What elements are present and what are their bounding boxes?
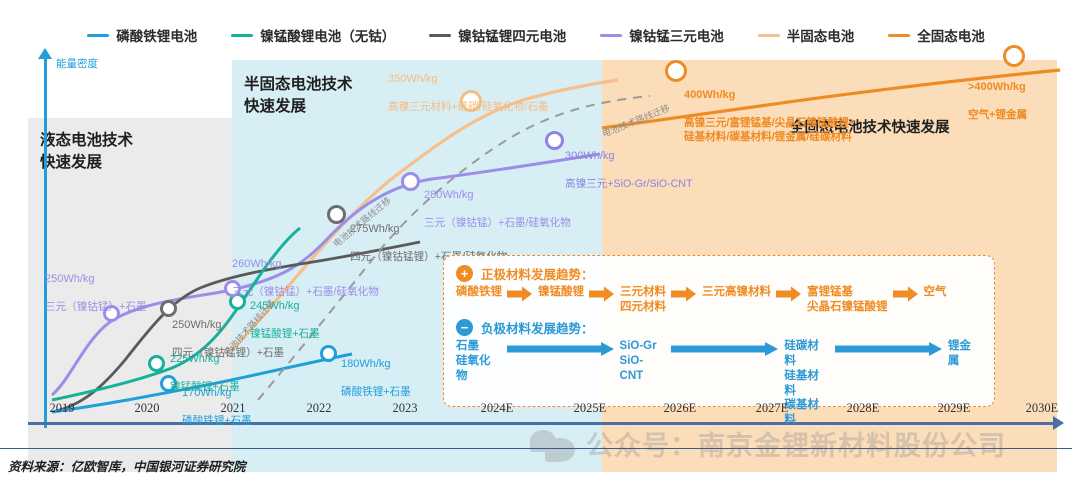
source-note: 资料来源：亿欧智库，中国银河证券研究院 (8, 456, 246, 475)
legend-swatch (231, 34, 253, 37)
annotation-material: 高镍三元/富锂锰基/尖晶石镍锰酸锂+ 硅基材料/碳基材料/锂金属/硅碳材料 (684, 117, 855, 143)
annotation-value: >400Wh/kg (968, 81, 1026, 93)
cathode-step: 三元高镍材料 (702, 285, 771, 300)
cathode-step: 富锂锰基 尖晶石镍锰酸锂 (807, 285, 888, 314)
legend-swatch (87, 34, 109, 37)
anode-title: 负极材料发展趋势： (481, 318, 594, 337)
legend-label: 半固态电池 (787, 25, 855, 45)
annotation-ncm-280: 280Wh/kg 三元（镍钴锰）+石墨/硅氧化物 (424, 174, 571, 231)
node-ncm-300 (545, 131, 564, 150)
legend-swatch (600, 34, 622, 37)
arrow-right-icon (507, 342, 615, 356)
annotation-material: 镍锰酸锂+石墨 (170, 381, 240, 393)
x-tick: 2028E (847, 401, 880, 416)
legend-item-lnmo: 镍锰酸锂电池（无钴） (231, 25, 395, 45)
cathode-step: 镍锰酸锂 (538, 285, 584, 300)
legend-label: 镍锰酸锂电池（无钴） (260, 25, 395, 45)
arrow-right-icon (776, 286, 802, 302)
annotation-material: 高镍三元材料+硅碳/硅氧化物/石墨 (388, 101, 548, 113)
cathode-title: 正极材料发展趋势： (481, 264, 594, 283)
legend-label: 全固态电池 (917, 25, 985, 45)
arrow-right-icon (589, 286, 615, 302)
annotation-value: 250Wh/kg (172, 319, 222, 331)
x-tick: 2020 (135, 401, 160, 416)
node-lnmo-225 (148, 355, 165, 372)
cathode-chain: 磷酸铁锂 镍锰酸锂 三元材料 四元材料 三元高镍材料 富锂锰基 尖晶石镍锰酸锂 … (456, 285, 982, 314)
x-tick: 2029E (938, 401, 971, 416)
arrow-right-icon (835, 342, 943, 356)
legend-item-ncm: 镍钴锰三元电池 (600, 25, 724, 45)
annotation-value: 260Wh/kg (232, 258, 282, 270)
x-tick: 2026E (664, 401, 697, 416)
legend-swatch (888, 34, 910, 37)
annotation-value: 180Wh/kg (341, 358, 391, 370)
arrow-right-icon (671, 286, 697, 302)
x-tick: 2021 (221, 401, 246, 416)
chart-legend: 磷酸铁锂电池 镍锰酸锂电池（无钴） 镍钴锰锂四元电池 镍钴锰三元电池 半固态电池… (0, 22, 1072, 48)
node-all-solid-400plus (1003, 45, 1025, 67)
annotation-all-solid-400: 400Wh/kg 高镍三元/富锂锰基/尖晶石镍锰酸锂+ 硅基材料/碳基材料/锂金… (684, 74, 855, 145)
annotation-material: 高镍三元+SiO-Gr/SiO-CNT (565, 178, 692, 190)
annotation-material: 三元（镍钴锰）+石墨/硅氧化物 (232, 286, 379, 298)
annotation-material: 空气+锂金属 (968, 109, 1027, 121)
legend-swatch (429, 34, 451, 37)
annotation-material: 三元（镍钴锰）+石墨/硅氧化物 (424, 217, 571, 229)
legend-label: 镍钴锰三元电池 (629, 25, 724, 45)
node-ncml-275 (327, 205, 346, 224)
footer-divider (0, 448, 1072, 449)
annotation-material: 三元（镍钴锰）+石墨 (45, 301, 147, 313)
x-tick: 2022 (307, 401, 332, 416)
annotation-value: 400Wh/kg (684, 89, 735, 101)
anode-step: SiO-Gr SiO-CNT (620, 339, 667, 383)
node-lfp-180 (320, 345, 337, 362)
anode-step: 锂金属 (948, 339, 982, 368)
arrow-right-icon (893, 286, 919, 302)
legend-item-semi-solid: 半固态电池 (758, 25, 855, 45)
x-tick: 2030E (1026, 401, 1059, 416)
annotation-value: 350Wh/kg (388, 73, 438, 85)
x-axis-ticks: 2019 2020 2021 2022 2023 2024E 2025E 202… (0, 401, 1072, 419)
annotation-semi-solid-350: 350Wh/kg 高镍三元材料+硅碳/硅氧化物/石墨 (388, 58, 548, 115)
x-tick: 2023 (393, 401, 418, 416)
materials-trend-box: + 正极材料发展趋势： 磷酸铁锂 镍锰酸锂 三元材料 四元材料 三元高镍材料 富… (443, 255, 995, 407)
x-tick: 2025E (574, 401, 607, 416)
legend-item-ncml: 镍钴锰锂四元电池 (429, 25, 566, 45)
arrow-right-icon (507, 286, 533, 302)
x-tick: 2019 (50, 401, 75, 416)
cathode-header: + 正极材料发展趋势： (456, 264, 982, 283)
annotation-material: 磷酸铁锂+石墨 (341, 386, 411, 398)
annotation-ncm-250: 250Wh/kg 三元（镍钴锰）+石墨 (45, 258, 147, 315)
annotation-all-solid-400plus: >400Wh/kg 空气+锂金属 (968, 66, 1027, 123)
annotation-value: 280Wh/kg (424, 189, 474, 201)
legend-label: 磷酸铁锂电池 (116, 25, 197, 45)
anode-header: − 负极材料发展趋势： (456, 318, 982, 337)
legend-label: 镍钴锰锂四元电池 (458, 25, 566, 45)
legend-swatch (758, 34, 780, 37)
chart-root: 磷酸铁锂电池 镍锰酸锂电池（无钴） 镍钴锰锂四元电池 镍钴锰三元电池 半固态电池… (0, 0, 1072, 484)
minus-icon: − (456, 319, 473, 336)
cathode-step: 磷酸铁锂 (456, 285, 502, 300)
arrow-right-icon (671, 342, 779, 356)
x-tick: 2027E (756, 401, 789, 416)
legend-item-lfp: 磷酸铁锂电池 (87, 25, 197, 45)
cathode-step: 三元材料 四元材料 (620, 285, 666, 314)
plus-icon: + (456, 265, 473, 282)
legend-item-all-solid: 全固态电池 (888, 25, 985, 45)
x-tick: 2024E (481, 401, 514, 416)
cathode-step: 空气 (924, 285, 947, 300)
annotation-lfp-180: 180Wh/kg 磷酸铁锂+石墨 (341, 343, 411, 400)
plot-area: 液态电池技术 快速发展 半固态电池技术 快速发展 全固态电池技术快速发展 能量密… (0, 50, 1072, 430)
annotation-value: 250Wh/kg (45, 273, 95, 285)
annotation-ncm-300: 300Wh/kg 高镍三元+SiO-Gr/SiO-CNT (565, 135, 692, 192)
annotation-value: 300Wh/kg (565, 150, 615, 162)
anode-step: 石墨 硅氧化物 (456, 339, 502, 383)
node-ncm-280 (401, 172, 420, 191)
